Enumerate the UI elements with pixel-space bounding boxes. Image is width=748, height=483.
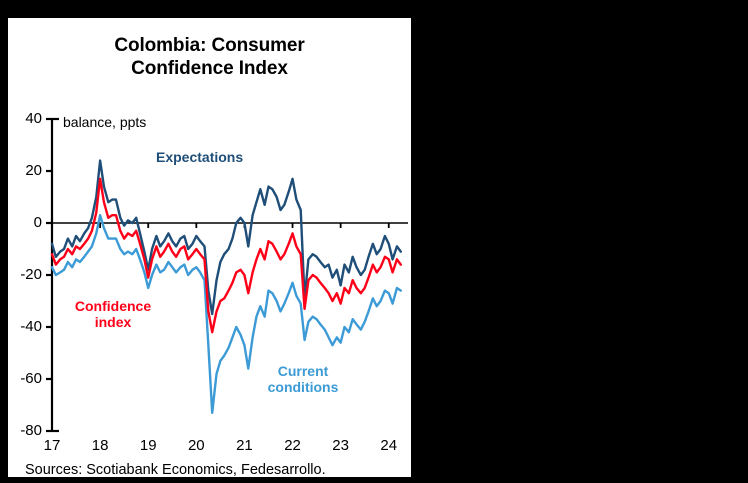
series-label-current-conditions: Current conditions bbox=[248, 363, 358, 395]
x-tick-label: 21 bbox=[229, 437, 259, 454]
series-label-expectations: Expectations bbox=[156, 149, 243, 165]
series-label-confidence-line1: Confidence bbox=[58, 298, 168, 314]
x-tick-label: 23 bbox=[326, 437, 356, 454]
x-tick-label: 20 bbox=[181, 437, 211, 454]
x-tick-label: 19 bbox=[133, 437, 163, 454]
y-tick-label: -40 bbox=[8, 318, 42, 335]
series-label-confidence-index: Confidence index bbox=[58, 298, 168, 330]
series-label-current-line2: conditions bbox=[248, 379, 358, 395]
y-axis-unit-label: balance, ppts bbox=[63, 114, 146, 130]
plot-area: balance, ppts Expectations Confidence in… bbox=[8, 18, 411, 477]
x-tick-label: 17 bbox=[37, 437, 67, 454]
x-tick-label: 22 bbox=[278, 437, 308, 454]
x-tick-label: 18 bbox=[85, 437, 115, 454]
x-tick-label: 24 bbox=[374, 437, 404, 454]
y-tick-label: 40 bbox=[8, 110, 42, 127]
chart-svg bbox=[8, 18, 411, 477]
y-tick-label: 20 bbox=[8, 162, 42, 179]
y-tick-label: -60 bbox=[8, 370, 42, 387]
source-note: Sources: Scotiabank Economics, Fedesarro… bbox=[25, 462, 326, 478]
y-tick-label: -20 bbox=[8, 266, 42, 283]
y-tick-label: 0 bbox=[8, 214, 42, 231]
series-label-current-line1: Current bbox=[248, 363, 358, 379]
chart-card: Colombia: Consumer Confidence Index bala… bbox=[8, 18, 411, 477]
series-label-confidence-line2: index bbox=[58, 314, 168, 330]
